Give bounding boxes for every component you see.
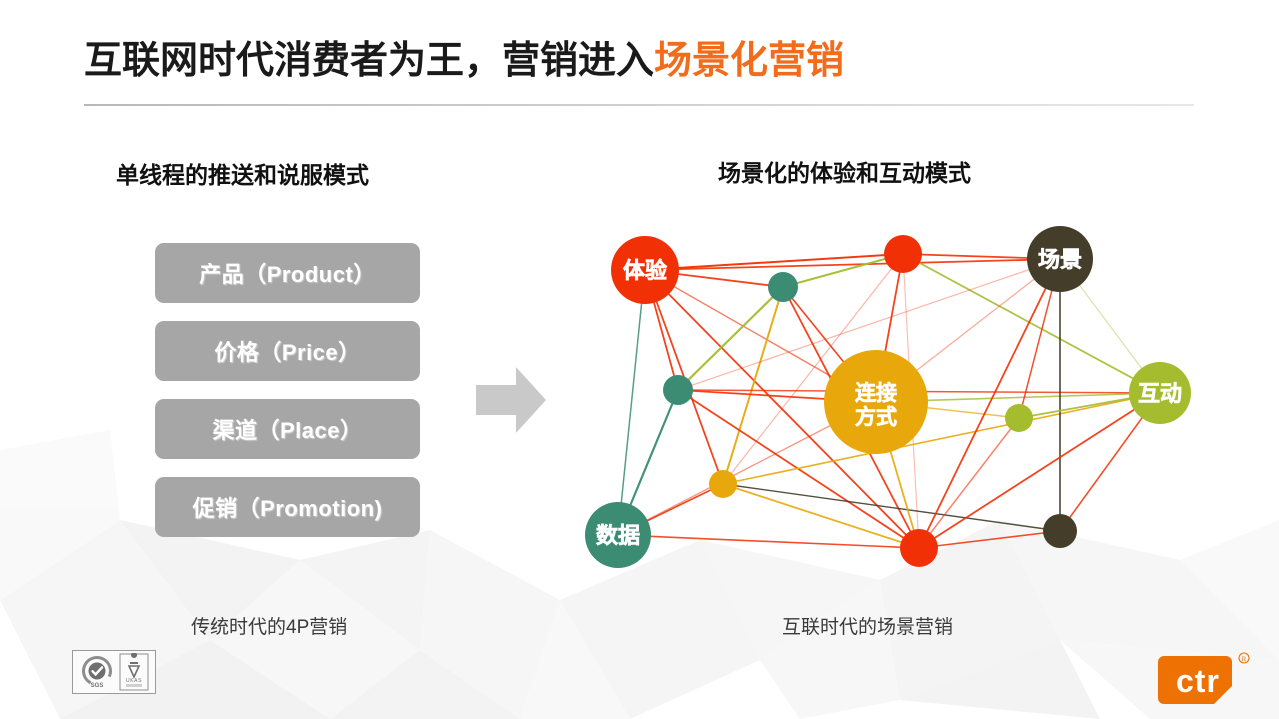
pill-product[interactable]: 产品（Product） xyxy=(155,243,420,303)
page-title: 互联网时代消费者为王，营销进入场景化营销 xyxy=(84,40,1194,84)
pill-promotion[interactable]: 促销（Promotion) xyxy=(155,477,420,537)
ctr-brand-logo: ctr R xyxy=(1150,648,1279,710)
ukas-label: UKAS xyxy=(126,678,142,684)
right-arrow-icon xyxy=(476,367,546,433)
node-circle xyxy=(900,529,938,567)
pill-price[interactable]: 价格（Price） xyxy=(155,321,420,381)
right-column-caption: 互联时代的场景营销 xyxy=(782,612,953,639)
page-title-main: 互联网时代消费者为王，营销进入 xyxy=(84,40,654,82)
ctr-wordmark: ctr xyxy=(1176,663,1220,699)
network-node-shuju[interactable]: 数据 xyxy=(585,502,651,568)
network-edge xyxy=(618,270,645,535)
network-node-n6[interactable] xyxy=(900,529,938,567)
network-node-hudong[interactable]: 互动 xyxy=(1129,362,1191,424)
page-title-accent: 场景化营销 xyxy=(654,40,844,82)
left-column-heading: 单线程的推送和说服模式 xyxy=(116,156,369,190)
node-circle xyxy=(1043,514,1077,548)
node-label: 数据 xyxy=(596,523,640,548)
node-circle xyxy=(884,235,922,273)
title-block: 互联网时代消费者为王，营销进入场景化营销 xyxy=(84,40,1194,84)
network-edge xyxy=(723,484,919,548)
network-node-n5[interactable] xyxy=(1005,404,1033,432)
node-circle xyxy=(1005,404,1033,432)
node-label: 连接 xyxy=(855,381,897,405)
node-label: 互动 xyxy=(1138,381,1182,406)
sgs-label: SGS xyxy=(91,683,104,689)
node-label: 场景 xyxy=(1038,247,1082,272)
network-node-changjing[interactable]: 场景 xyxy=(1027,226,1093,292)
network-node-n7[interactable] xyxy=(1043,514,1077,548)
scenario-network-diagram: 体验连接方式场景互动数据 xyxy=(560,210,1220,600)
node-circle xyxy=(663,375,693,405)
network-edge xyxy=(723,393,1160,484)
certification-badge: SGS UKAS xyxy=(72,650,156,694)
right-column-heading: 场景化的体验和互动模式 xyxy=(718,154,971,188)
network-node-n4[interactable] xyxy=(709,470,737,498)
network-node-tiyan[interactable]: 体验 xyxy=(611,236,679,304)
svg-text:R: R xyxy=(1242,655,1247,663)
network-edge xyxy=(919,418,1019,548)
node-circle xyxy=(768,272,798,302)
network-node-n1[interactable] xyxy=(884,235,922,273)
left-column-caption: 传统时代的4P营销 xyxy=(191,612,347,639)
registered-trademark-icon: R xyxy=(1239,653,1249,663)
network-node-n3[interactable] xyxy=(663,375,693,405)
network-node-n2[interactable] xyxy=(768,272,798,302)
title-divider xyxy=(84,104,1194,106)
four-p-pill-list: 产品（Product） 价格（Price） 渠道（Place） 促销（Promo… xyxy=(155,243,420,555)
network-node-lianjie[interactable]: 连接方式 xyxy=(824,350,928,454)
ukas-certification-icon: UKAS xyxy=(119,653,149,691)
network-edge xyxy=(645,254,903,270)
pill-place[interactable]: 渠道（Place） xyxy=(155,399,420,459)
network-edge xyxy=(919,393,1160,548)
network-edge xyxy=(919,259,1060,548)
node-label: 方式 xyxy=(855,405,897,429)
network-edge xyxy=(618,535,919,548)
network-edge xyxy=(723,484,1060,531)
node-circle xyxy=(709,470,737,498)
node-label: 体验 xyxy=(623,258,667,283)
sgs-certification-icon: SGS xyxy=(79,654,115,690)
